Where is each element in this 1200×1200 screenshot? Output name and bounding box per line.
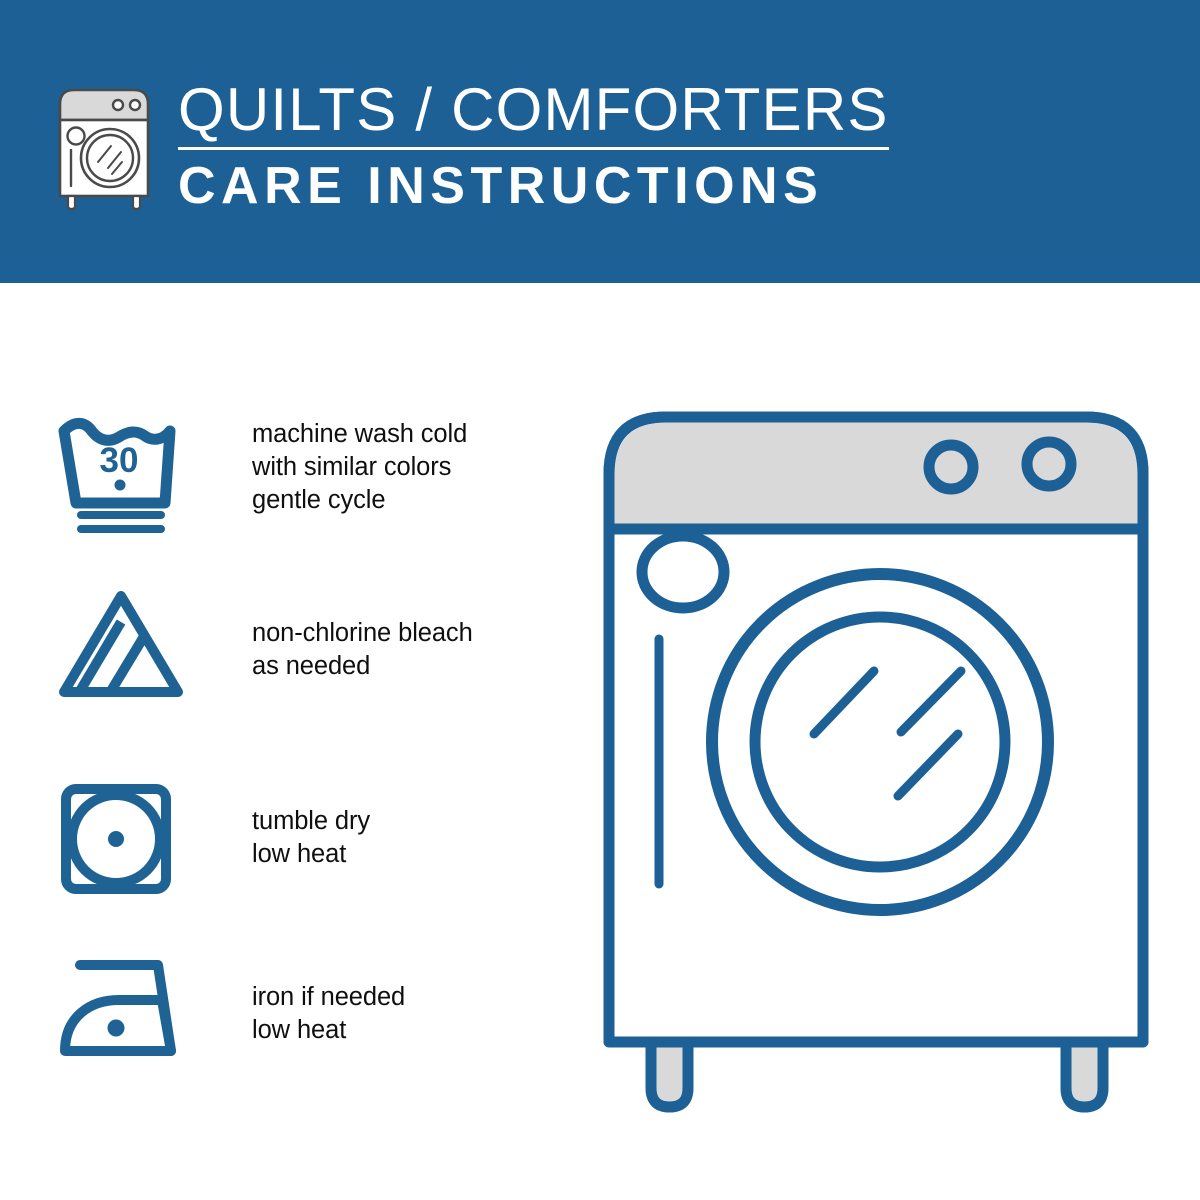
detergent-dispenser[interactable]: [642, 536, 724, 608]
control-knob-left[interactable]: [929, 445, 973, 489]
header-band: QUILTS / COMFORTERS CARE INSTRUCTIONS: [0, 0, 1200, 283]
care-text-tumble-dry: tumble dry low heat: [252, 805, 370, 871]
tumble-dry-low-icon: [58, 783, 189, 895]
care-text-line: as needed: [252, 650, 473, 683]
care-symbol-slot: 30: [58, 417, 190, 535]
care-text-line: tumble dry: [252, 805, 370, 838]
gentle-bar-2: [77, 525, 165, 533]
header-title-group: QUILTS / COMFORTERS CARE INSTRUCTIONS: [178, 78, 889, 215]
front-load-washing-machine-illustration: [596, 404, 1156, 1120]
washing-machine-icon: [52, 82, 156, 210]
header-content: QUILTS / COMFORTERS CARE INSTRUCTIONS: [52, 78, 889, 215]
page-title: QUILTS / COMFORTERS: [178, 78, 889, 142]
care-item-tumble-dry: tumble dry low heat: [58, 783, 370, 895]
machine-wash-30-gentle-icon: 30: [58, 417, 189, 535]
care-symbol-slot: [58, 953, 190, 1061]
page-subtitle: CARE INSTRUCTIONS: [178, 157, 889, 215]
care-text-line: with similar colors: [252, 451, 467, 484]
care-item-machine-wash: 30 machine wash cold with similar colors…: [58, 417, 467, 535]
iron-heat-dot: [108, 1020, 125, 1037]
care-text-line: machine wash cold: [252, 418, 467, 451]
care-text-line: low heat: [252, 838, 370, 871]
door-window[interactable]: [755, 617, 1005, 867]
control-knob-right[interactable]: [1027, 442, 1071, 486]
foot-right: [1066, 1042, 1103, 1107]
care-instructions-page: QUILTS / COMFORTERS CARE INSTRUCTIONS 30: [0, 0, 1200, 1200]
care-text-line: gentle cycle: [252, 484, 467, 517]
wash-dot: [115, 480, 126, 491]
care-text-line: low heat: [252, 1014, 405, 1047]
care-text-machine-wash: machine wash cold with similar colors ge…: [252, 418, 467, 517]
wash-temperature-label: 30: [100, 441, 139, 480]
care-text-iron: iron if needed low heat: [252, 981, 405, 1047]
foot-left: [651, 1042, 688, 1107]
gentle-bar-1: [77, 511, 165, 519]
care-symbol-slot: [58, 588, 190, 700]
care-symbol-slot: [58, 783, 190, 895]
dry-heat-dot: [108, 831, 124, 847]
iron-low-heat-icon: [58, 953, 189, 1061]
non-chlorine-bleach-icon: [58, 588, 189, 700]
care-text-bleach: non-chlorine bleach as needed: [252, 617, 473, 683]
care-instruction-list: 30 machine wash cold with similar colors…: [0, 283, 560, 1200]
title-divider: [178, 147, 889, 150]
care-item-iron: iron if needed low heat: [58, 953, 405, 1061]
care-text-line: iron if needed: [252, 981, 405, 1014]
care-item-bleach: non-chlorine bleach as needed: [58, 588, 473, 700]
care-text-line: non-chlorine bleach: [252, 617, 473, 650]
